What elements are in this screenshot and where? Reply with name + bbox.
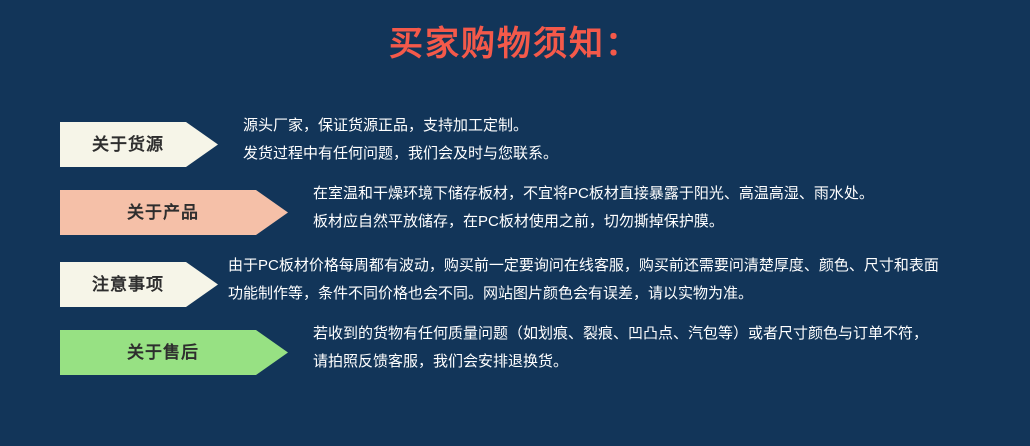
page-title: 买家购物须知： <box>0 22 1030 66</box>
notice-section-source: 关于货源 源头厂家，保证货源正品，支持加工定制。 发货过程中有任何问题，我们会及… <box>0 112 1030 182</box>
section-text-attention: 由于PC板材价格每周都有波动，购买前一定要询问在线客服，购买前还需要问清楚厚度、… <box>228 252 939 308</box>
section-text-product: 在室温和干燥环境下储存板材，不宜将PC板材直接暴露于阳光、高温高湿、雨水处。 板… <box>313 180 874 236</box>
section-tag-attention: 注意事项 <box>60 262 218 307</box>
section-text-line: 在室温和干燥环境下储存板材，不宜将PC板材直接暴露于阳光、高温高湿、雨水处。 <box>313 180 874 208</box>
section-text-source: 源头厂家，保证货源正品，支持加工定制。 发货过程中有任何问题，我们会及时与您联系… <box>243 112 558 168</box>
section-tag-source: 关于货源 <box>60 122 218 167</box>
buyer-notice-banner: 买家购物须知： 关于货源 源头厂家，保证货源正品，支持加工定制。 发货过程中有任… <box>0 0 1030 446</box>
section-tag-aftersales: 关于售后 <box>60 330 288 375</box>
section-text-line: 由于PC板材价格每周都有波动，购买前一定要询问在线客服，购买前还需要问清楚厚度、… <box>228 252 939 280</box>
section-text-line: 发货过程中有任何问题，我们会及时与您联系。 <box>243 140 558 168</box>
section-text-line: 板材应自然平放储存，在PC板材使用之前，切勿撕掉保护膜。 <box>313 208 874 236</box>
section-text-line: 功能制作等，条件不同价格也会不同。网站图片颜色会有误差，请以实物为准。 <box>228 280 939 308</box>
section-text-line: 若收到的货物有任何质量问题（如划痕、裂痕、凹凸点、汽包等）或者尺寸颜色与订单不符… <box>313 320 928 348</box>
notice-section-list: 关于货源 源头厂家，保证货源正品，支持加工定制。 发货过程中有任何问题，我们会及… <box>0 112 1030 392</box>
notice-section-product: 关于产品 在室温和干燥环境下储存板材，不宜将PC板材直接暴露于阳光、高温高湿、雨… <box>0 182 1030 252</box>
section-text-aftersales: 若收到的货物有任何质量问题（如划痕、裂痕、凹凸点、汽包等）或者尺寸颜色与订单不符… <box>313 320 928 376</box>
notice-section-attention: 注意事项 由于PC板材价格每周都有波动，购买前一定要询问在线客服，购买前还需要问… <box>0 252 1030 322</box>
section-text-line: 请拍照反馈客服，我们会安排退换货。 <box>313 348 928 376</box>
section-tag-product: 关于产品 <box>60 190 288 235</box>
section-text-line: 源头厂家，保证货源正品，支持加工定制。 <box>243 112 558 140</box>
notice-section-aftersales: 关于售后 若收到的货物有任何质量问题（如划痕、裂痕、凹凸点、汽包等）或者尺寸颜色… <box>0 322 1030 392</box>
